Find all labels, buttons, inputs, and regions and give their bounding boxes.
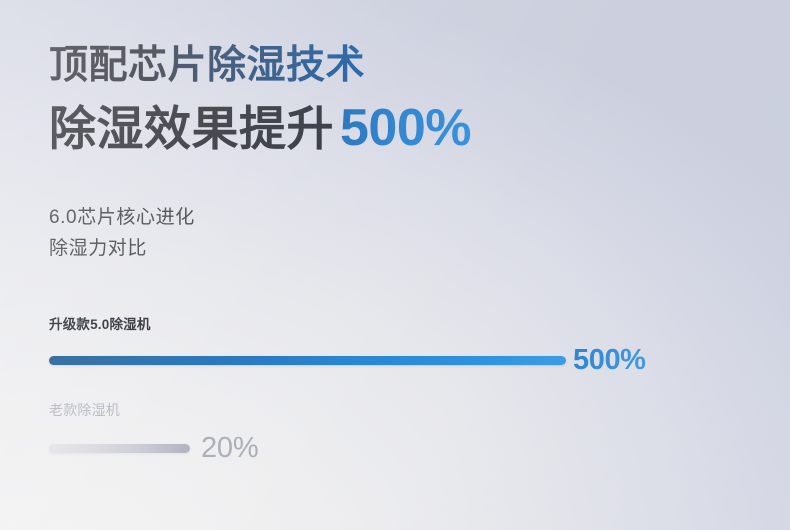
headline-secondary: 除湿效果提升 500%	[49, 100, 471, 157]
bar-row-old-model: 20%	[49, 434, 749, 463]
comparison-chart: 升级款5.0除湿机 500% 老款除湿机 20%	[49, 313, 749, 463]
headline-primary: 顶配芯片除湿技术	[49, 44, 471, 88]
subtitle-block: 6.0芯片核心进化 除湿力对比	[49, 203, 195, 265]
bar-fill-old-model	[49, 444, 190, 453]
bar-group-new-model: 升级款5.0除湿机 500%	[49, 313, 749, 375]
subtitle-line-2: 除湿力对比	[49, 234, 195, 265]
bar-value-new-model: 500%	[573, 346, 646, 375]
subtitle-line-1: 6.0芯片核心进化	[49, 203, 195, 234]
headline-secondary-number: 500%	[340, 100, 471, 157]
bar-group-old-model: 老款除湿机 20%	[49, 400, 749, 463]
bar-label-old-model: 老款除湿机	[49, 400, 749, 420]
headline-secondary-text: 除湿效果提升	[49, 103, 334, 155]
bar-label-new-model: 升级款5.0除湿机	[49, 313, 749, 333]
bar-value-old-model: 20%	[201, 434, 258, 463]
headline-block: 顶配芯片除湿技术 除湿效果提升 500%	[49, 44, 471, 157]
bar-fill-new-model	[49, 356, 566, 365]
promo-poster: 顶配芯片除湿技术 除湿效果提升 500% 6.0芯片核心进化 除湿力对比 升级款…	[0, 0, 790, 530]
bar-row-new-model: 500%	[49, 346, 749, 375]
